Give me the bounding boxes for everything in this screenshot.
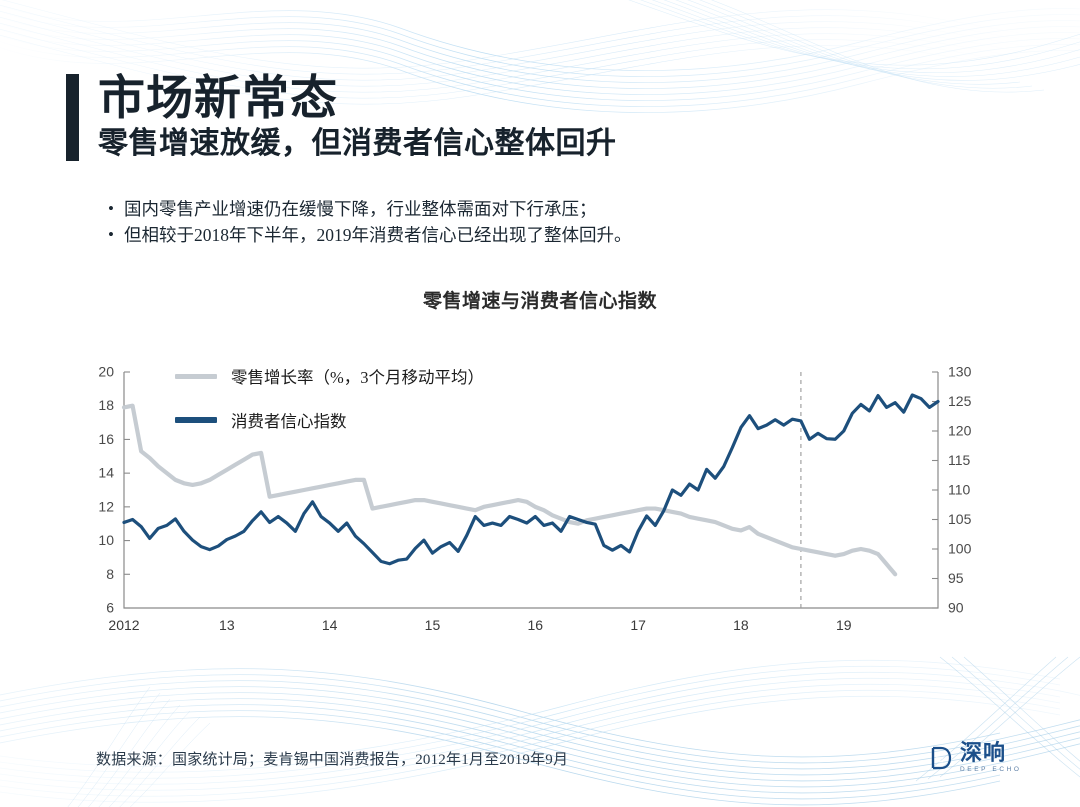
svg-text:105: 105 (948, 511, 972, 527)
svg-text:115: 115 (948, 452, 971, 468)
logo-name-cn: 深响 (960, 742, 1022, 764)
svg-text:15: 15 (425, 617, 441, 633)
svg-text:130: 130 (948, 364, 972, 380)
list-item: • 但相较于2018年下半年，2019年消费者信心已经出现了整体回升。 (108, 222, 868, 248)
svg-text:20: 20 (98, 364, 114, 380)
svg-text:16: 16 (98, 431, 114, 447)
chart-legend: 零售增长率（%，3个月移动平均） 消费者信心指数 (175, 364, 484, 452)
legend-item-confidence: 消费者信心指数 (175, 408, 484, 432)
legend-swatch-retail (175, 374, 217, 379)
decorative-wave-bottom (0, 647, 1080, 807)
svg-text:125: 125 (948, 393, 972, 409)
page-subtitle: 零售增速放缓，但消费者信心整体回升 (98, 127, 617, 162)
svg-text:10: 10 (98, 532, 114, 548)
svg-text:14: 14 (98, 465, 114, 481)
bullet-dot-icon: • (108, 196, 124, 222)
svg-text:13: 13 (219, 617, 235, 633)
svg-text:18: 18 (98, 397, 114, 413)
chart-plot: 6810121416182090951001051101151201251302… (0, 286, 1080, 636)
logo-name-en: DEEP ECHO (960, 767, 1022, 774)
bullet-text: 国内零售产业增速仍在缓慢下降，行业整体需面对下行承压； (124, 196, 868, 222)
svg-text:19: 19 (836, 617, 852, 633)
svg-text:6: 6 (106, 600, 114, 616)
svg-text:18: 18 (733, 617, 749, 633)
slide-header: 市场新常态 零售增速放缓，但消费者信心整体回升 (66, 74, 617, 161)
svg-text:8: 8 (106, 566, 114, 582)
list-item: • 国内零售产业增速仍在缓慢下降，行业整体需面对下行承压； (108, 196, 868, 222)
svg-text:16: 16 (527, 617, 543, 633)
legend-label-confidence: 消费者信心指数 (231, 408, 347, 432)
svg-text:120: 120 (948, 423, 972, 439)
bullet-text: 但相较于2018年下半年，2019年消费者信心已经出现了整体回升。 (124, 222, 868, 248)
bullet-list: • 国内零售产业增速仍在缓慢下降，行业整体需面对下行承压； • 但相较于2018… (108, 196, 868, 249)
legend-item-retail: 零售增长率（%，3个月移动平均） (175, 364, 484, 388)
source-note: 数据来源：国家统计局；麦肯锡中国消费报告，2012年1月至2019年9月 (96, 748, 568, 769)
chart-container: 零售增速与消费者信心指数 681012141618209095100105110… (0, 286, 1080, 636)
svg-text:110: 110 (948, 482, 971, 498)
legend-label-retail: 零售增长率（%，3个月移动平均） (231, 364, 484, 388)
svg-text:95: 95 (948, 570, 964, 586)
svg-text:12: 12 (98, 498, 114, 514)
svg-text:14: 14 (322, 617, 338, 633)
brand-logo: 深响 DEEP ECHO (928, 742, 1022, 774)
deep-echo-mark-icon (928, 745, 954, 771)
title-block: 市场新常态 零售增速放缓，但消费者信心整体回升 (98, 74, 617, 161)
svg-text:17: 17 (630, 617, 646, 633)
bullet-dot-icon: • (108, 222, 124, 248)
svg-text:2012: 2012 (108, 617, 139, 633)
svg-text:100: 100 (948, 541, 972, 557)
page-title: 市场新常态 (98, 74, 617, 125)
legend-swatch-confidence (175, 417, 217, 423)
logo-text-block: 深响 DEEP ECHO (960, 742, 1022, 774)
svg-text:90: 90 (948, 600, 964, 616)
slide-root: 市场新常态 零售增速放缓，但消费者信心整体回升 • 国内零售产业增速仍在缓慢下降… (0, 0, 1080, 807)
title-accent-bar (66, 74, 79, 161)
